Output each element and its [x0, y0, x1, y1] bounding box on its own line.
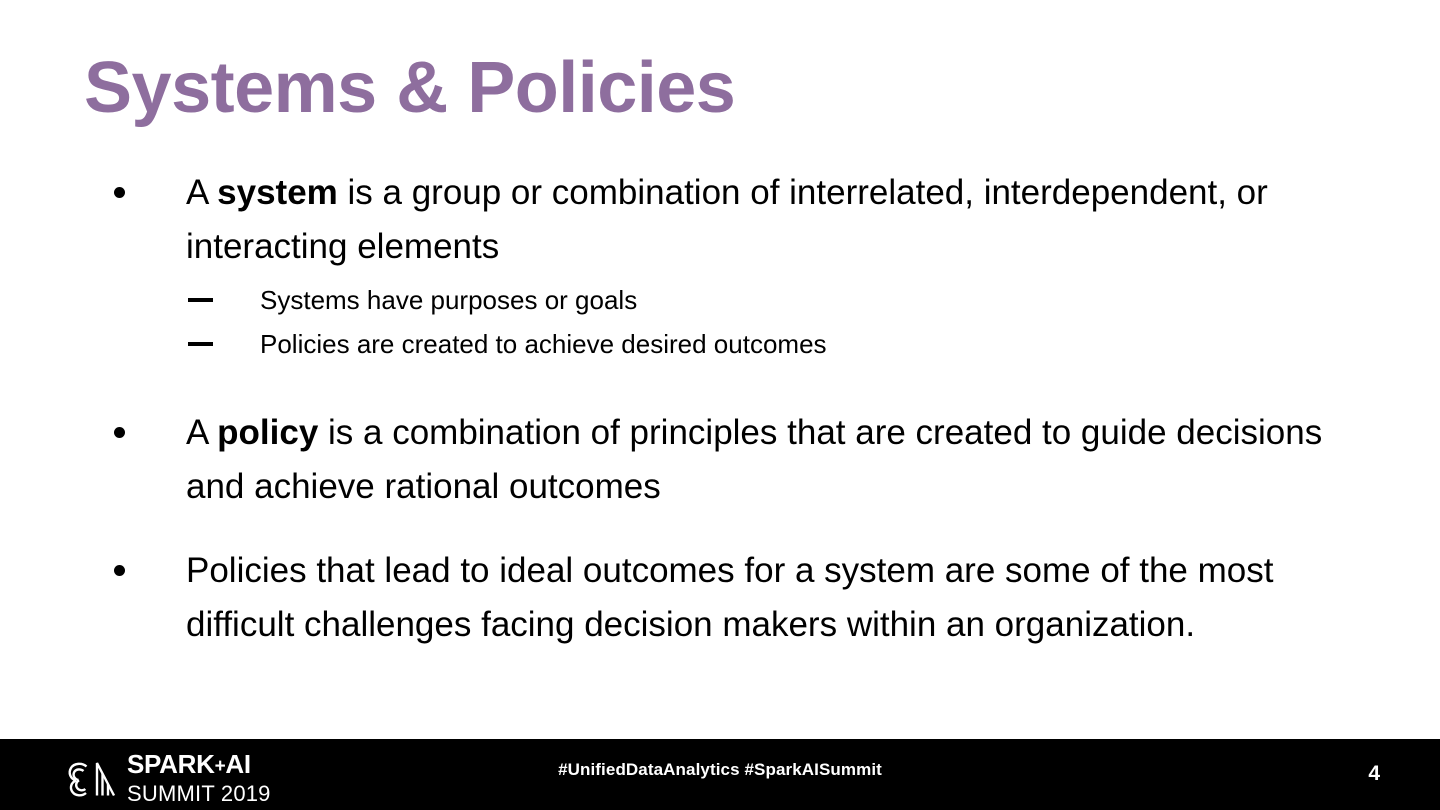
sub-list-item: Policies are created to achieve desired … [100, 322, 1380, 366]
footer-hashtags: #UnifiedDataAnalytics #SparkAISummit [0, 760, 1440, 780]
presentation-slide: Systems & Policies A system is a group o… [0, 0, 1440, 810]
bullet-text-post: is a combination of principles that are … [186, 413, 1322, 506]
spacer [100, 518, 1380, 544]
bullet-dot-icon [114, 406, 134, 460]
list-item-text: A system is a group or combination of in… [186, 166, 1380, 274]
sub-list-item-text: Systems have purposes or goals [260, 285, 637, 315]
bullet-text-pre: A [186, 413, 217, 452]
slide-body: A system is a group or combination of in… [100, 166, 1380, 656]
en-dash-icon [188, 278, 213, 322]
bullet-text-bold: system [217, 173, 338, 212]
sub-list: Systems have purposes or goals Policies … [100, 278, 1380, 366]
spacer [100, 376, 1380, 406]
sub-list-item-text: Policies are created to achieve desired … [260, 329, 827, 359]
list-item-text: Policies that lead to ideal outcomes for… [186, 544, 1380, 652]
en-dash-icon [188, 322, 213, 366]
sub-list-item: Systems have purposes or goals [100, 278, 1380, 322]
page-title: Systems & Policies [84, 52, 735, 124]
brand-line-secondary: SUMMIT 2019 [127, 782, 271, 806]
bullet-dot-icon [114, 544, 134, 598]
list-item: Policies that lead to ideal outcomes for… [100, 544, 1380, 652]
bullet-text-pre: A [186, 173, 217, 212]
bullet-text-post: is a group or combination of interrelate… [186, 173, 1268, 266]
bullet-text-pre: Policies that lead to ideal outcomes for… [186, 551, 1273, 644]
list-item-text: A policy is a combination of principles … [186, 406, 1380, 514]
list-item: A system is a group or combination of in… [100, 166, 1380, 274]
slide-number: 4 [1368, 762, 1380, 786]
list-item: A policy is a combination of principles … [100, 406, 1380, 514]
bullet-dot-icon [114, 166, 134, 220]
bullet-text-bold: policy [217, 413, 318, 452]
